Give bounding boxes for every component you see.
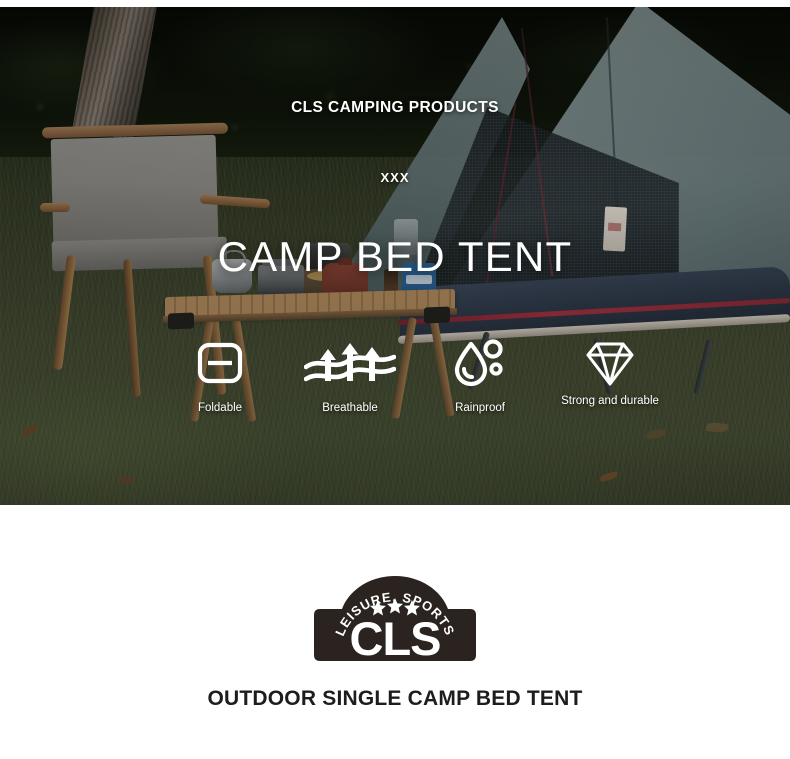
feature-item-foldable: Foldable	[155, 335, 285, 415]
brand-logo: LEISURE, SPORTS CLS	[0, 573, 790, 665]
hero-text-block: CLS CAMPING PRODUCTS XXX CAMP BED TENT F…	[0, 7, 790, 505]
brand-section: LEISURE, SPORTS CLS OUTDOOR SINGLE CAMP …	[0, 505, 790, 759]
feature-label: Rainproof	[455, 402, 505, 415]
feature-item-breathable: Breathable	[285, 335, 415, 415]
product-detail-page: CLS CAMPING PRODUCTS XXX CAMP BED TENT F…	[0, 0, 790, 759]
feature-item-durable: Strong and durable	[545, 335, 675, 415]
product-name: OUTDOOR SINGLE CAMP BED TENT	[0, 687, 790, 711]
hero-title: CAMP BED TENT	[0, 233, 790, 281]
durable-icon	[584, 335, 636, 391]
hero-eyebrow: CLS CAMPING PRODUCTS	[0, 99, 790, 117]
feature-label: Foldable	[198, 402, 242, 415]
logo-wordmark: CLS	[350, 612, 441, 665]
hero-model-code: XXX	[0, 170, 790, 185]
breathable-icon	[304, 335, 396, 391]
feature-list: Foldable Bre	[155, 335, 675, 415]
feature-item-rainproof: Rainproof	[415, 335, 545, 415]
rainproof-icon	[453, 335, 507, 391]
feature-label: Strong and durable	[561, 395, 659, 408]
hero-banner: CLS CAMPING PRODUCTS XXX CAMP BED TENT F…	[0, 7, 790, 505]
top-white-strip	[0, 0, 790, 7]
feature-label: Breathable	[322, 402, 378, 415]
foldable-icon	[196, 335, 244, 391]
